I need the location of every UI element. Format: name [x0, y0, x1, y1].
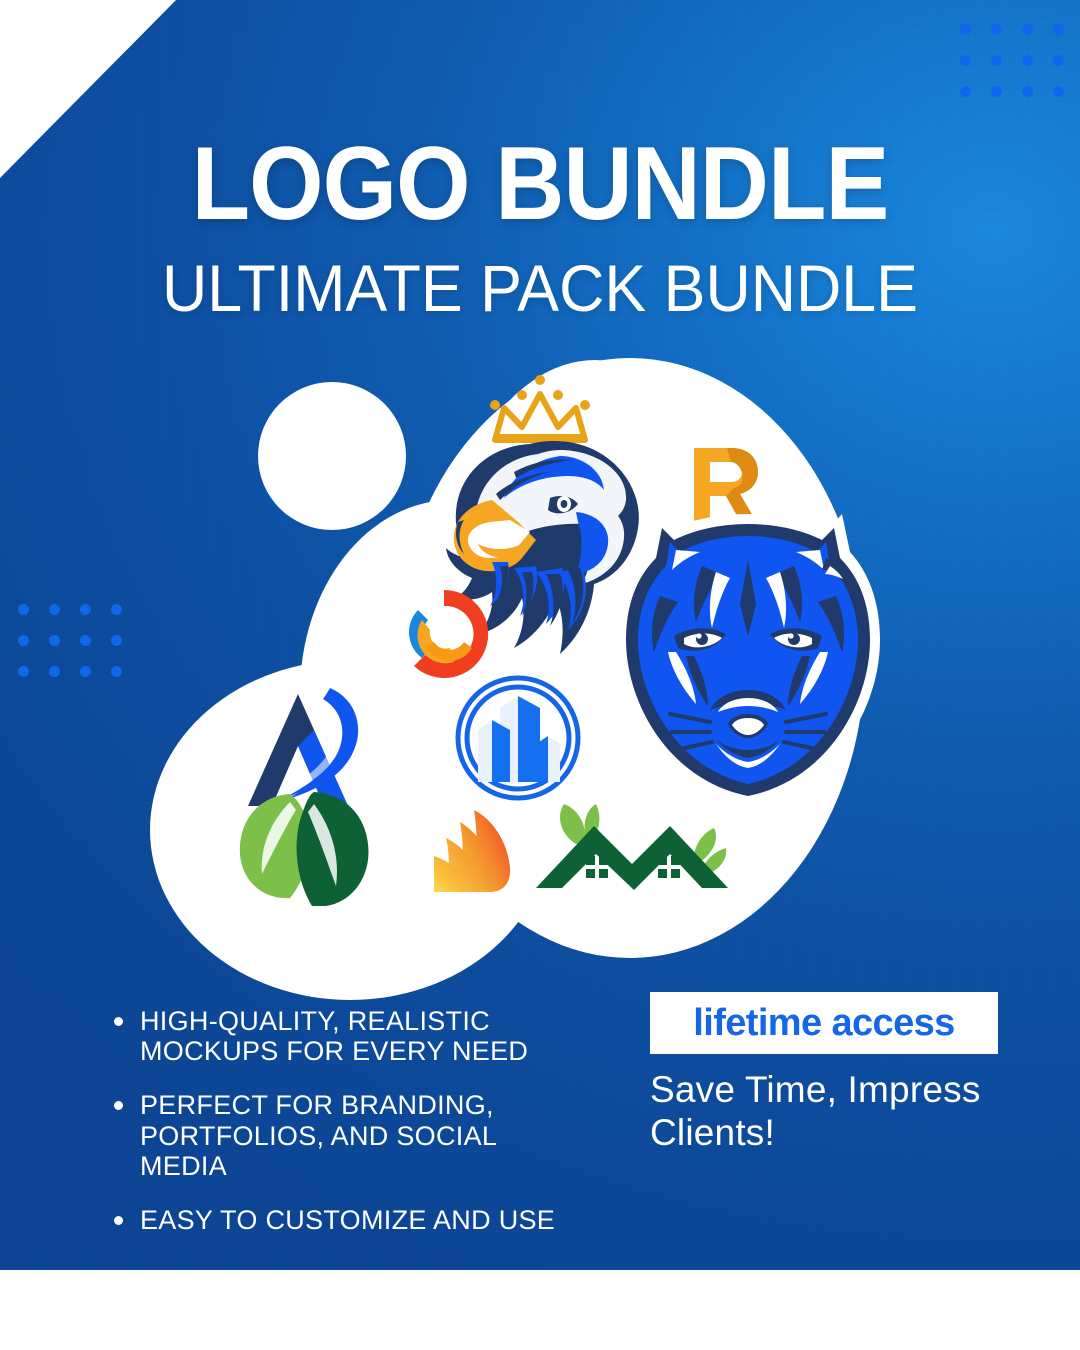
letter-a-leaf-logo: [218, 676, 388, 906]
poster-canvas: LOGO BUNDLE ULTIMATE PACK BUNDLE: [0, 0, 1080, 1350]
lifetime-access-label: lifetime access: [693, 1002, 954, 1045]
bottom-white-strip: [0, 1270, 1080, 1350]
wing-feather-logo: [428, 806, 538, 898]
page-subtitle: ULTIMATE PACK BUNDLE: [27, 255, 1053, 321]
page-title: LOGO BUNDLE: [43, 132, 1037, 236]
panther-mascot-logo: [598, 500, 898, 820]
list-item: PERFECT FOR BRANDING, PORTFOLIOS, AND SO…: [104, 1090, 574, 1181]
dot-grid-top-right: [960, 24, 1064, 97]
list-item: HIGH-QUALITY, REALISTIC MOCKUPS FOR EVER…: [104, 1006, 574, 1066]
lifetime-access-badge: lifetime access: [650, 992, 998, 1054]
tagline-text: Save Time, Impress Clients!: [650, 1068, 1010, 1155]
building-circle-logo: [452, 672, 584, 804]
feature-list: HIGH-QUALITY, REALISTIC MOCKUPS FOR EVER…: [104, 1006, 574, 1235]
blob-tail-circle: [258, 382, 406, 530]
house-roof-leaf-logo: [524, 798, 740, 900]
dot-grid-middle-left: [18, 604, 122, 677]
circle-swirl-logo: [396, 586, 492, 682]
list-item: EASY TO CUSTOMIZE AND USE: [104, 1205, 574, 1235]
